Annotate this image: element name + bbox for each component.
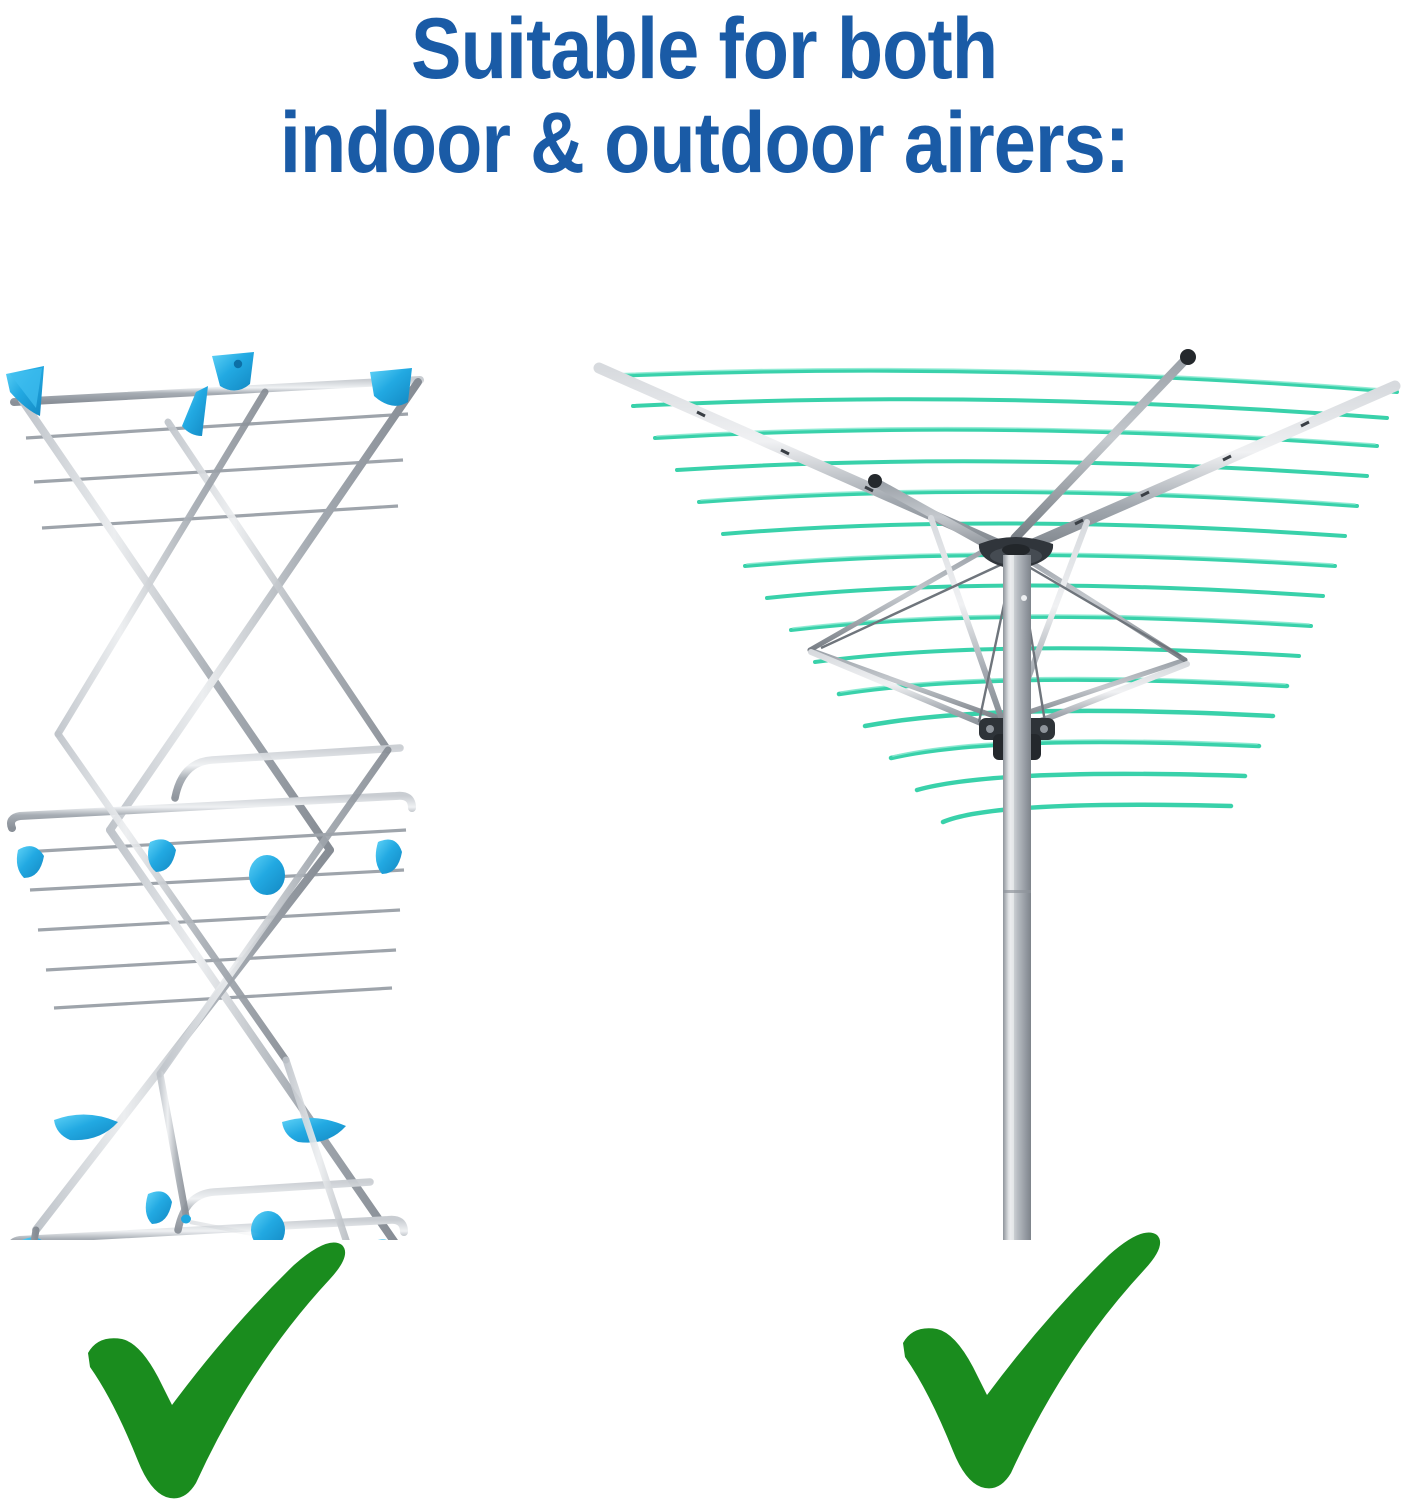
- rotary-pole: [1003, 555, 1031, 1240]
- indoor-airer-illustration: [0, 330, 440, 1240]
- airer-joint-bottom-inner: [146, 1191, 172, 1224]
- airer-joint-mid-left: [17, 846, 44, 878]
- rotary-arm-front-cap: [868, 474, 882, 488]
- airer-tier-middle: [11, 734, 412, 1240]
- headline-line-1: Suitable for both: [411, 2, 997, 96]
- airer-foot-back: [181, 1215, 191, 1224]
- promo-page: Suitable for both indoor & outdoor airer…: [0, 0, 1408, 1500]
- check-icon-indoor: [80, 1235, 390, 1500]
- airer-cap-top-right: [370, 368, 412, 406]
- airer-joint-mid-inner-left: [148, 839, 176, 872]
- airer-tier-top: [6, 352, 420, 850]
- page-title: Suitable for both indoor & outdoor airer…: [0, 0, 1408, 210]
- check-icon-outdoor: [895, 1225, 1205, 1490]
- airer-joint-mid-center: [249, 855, 285, 895]
- airer-legs: [3, 1060, 402, 1240]
- headline-line-2: indoor & outdoor airers:: [279, 96, 1128, 190]
- rotary-airer-illustration: [575, 330, 1408, 1250]
- rotary-arm-rear-cap: [1180, 349, 1196, 365]
- airer-cap-top-mid: [212, 352, 254, 391]
